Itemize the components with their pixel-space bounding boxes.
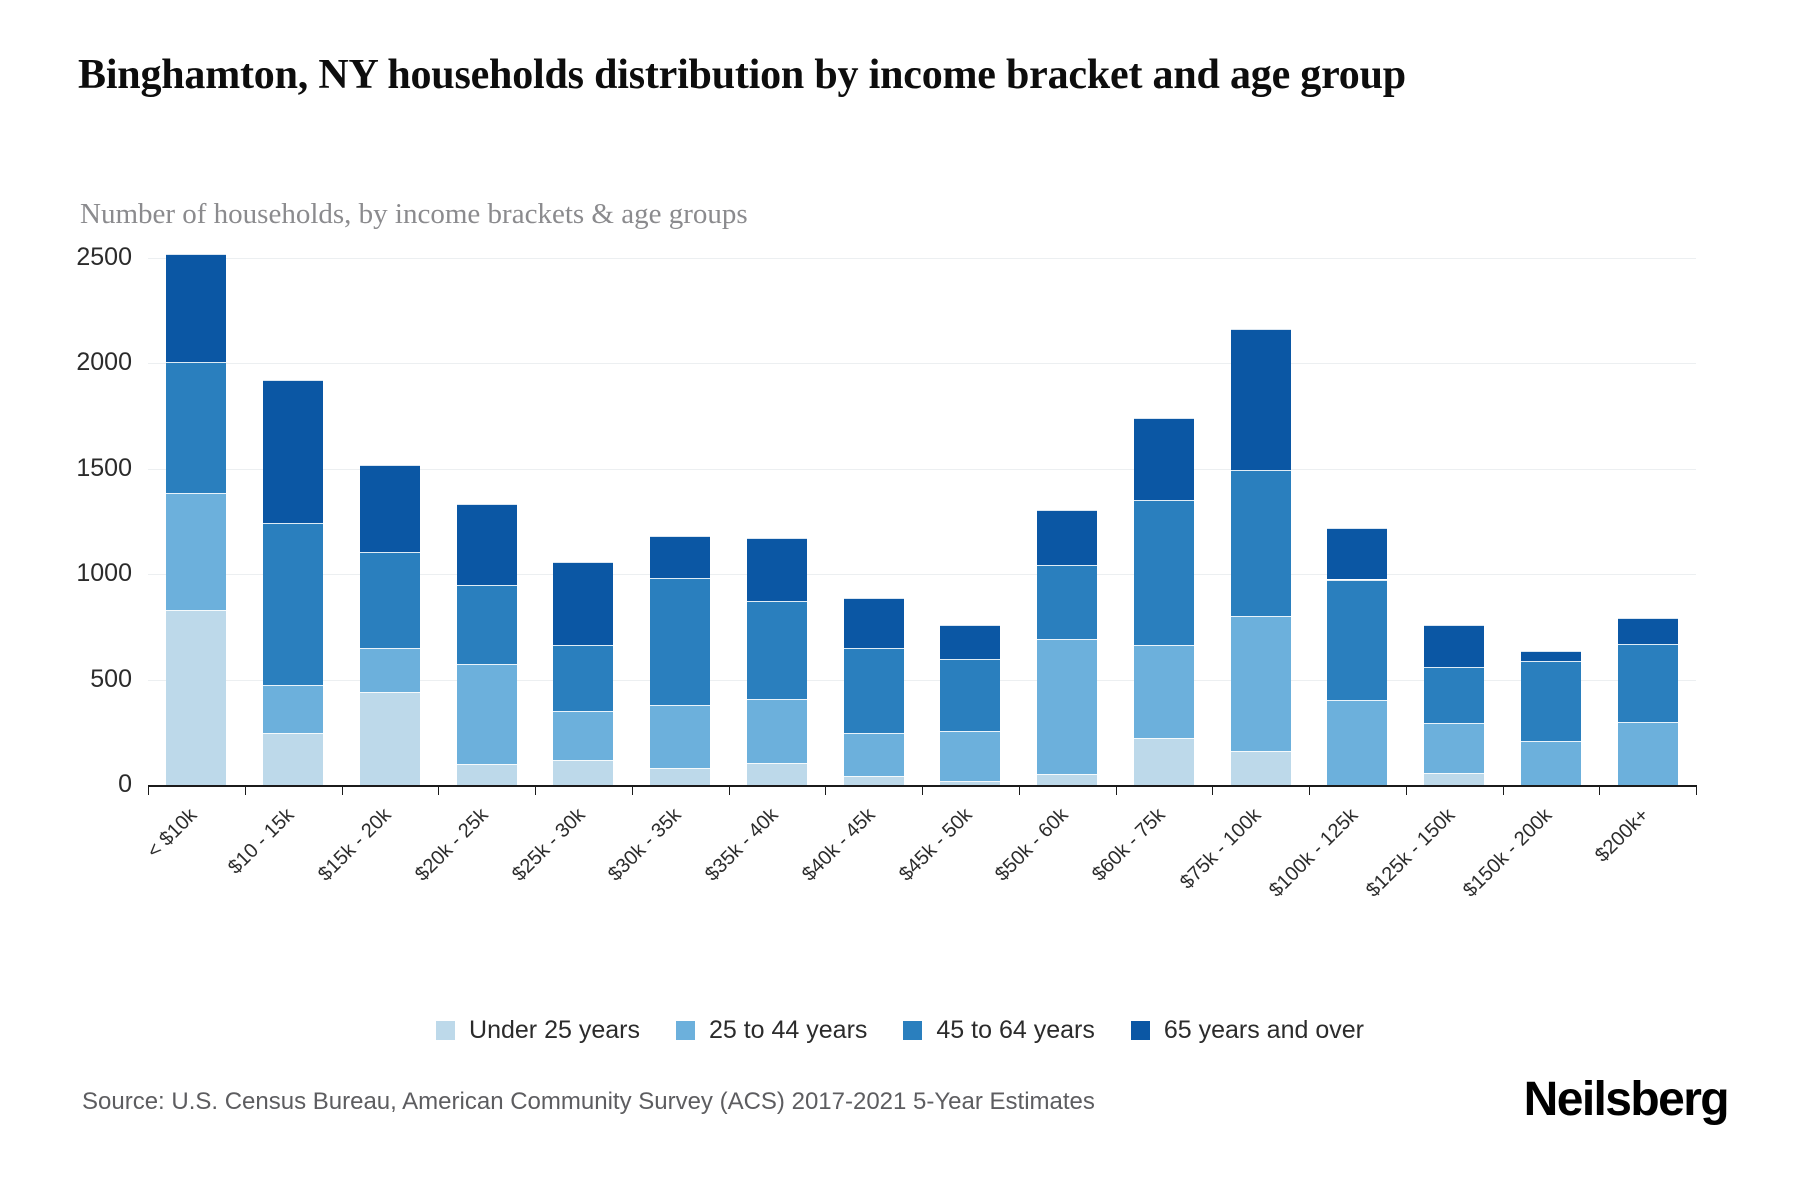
x-axis-tick-mark bbox=[922, 785, 923, 795]
x-axis-tick-mark bbox=[148, 785, 149, 795]
y-axis-tick-label: 1500 bbox=[12, 454, 132, 483]
x-axis-tick-mark bbox=[1309, 785, 1310, 795]
bar-segment[interactable] bbox=[1037, 774, 1097, 785]
bar-segment[interactable] bbox=[166, 254, 226, 363]
x-axis-tick-label: $200k+ bbox=[1591, 804, 1654, 867]
x-axis-tick-label: $100k - 125k bbox=[1265, 804, 1363, 902]
x-axis-tick-mark bbox=[729, 785, 730, 795]
legend-item[interactable]: 25 to 44 years bbox=[676, 1016, 867, 1045]
y-axis-tick-label: 2000 bbox=[12, 348, 132, 377]
y-axis-tick-label: 1000 bbox=[12, 559, 132, 588]
bar-stack[interactable] bbox=[1327, 258, 1387, 785]
bar-stack[interactable] bbox=[1521, 258, 1581, 785]
bar-segment[interactable] bbox=[1037, 510, 1097, 565]
legend-swatch-icon bbox=[676, 1021, 695, 1040]
bar-segment[interactable] bbox=[650, 768, 710, 785]
x-axis-tick-mark bbox=[342, 785, 343, 795]
bar-stack[interactable] bbox=[553, 258, 613, 785]
legend-item[interactable]: Under 25 years bbox=[436, 1016, 640, 1045]
bar-segment[interactable] bbox=[166, 362, 226, 493]
bar-segment[interactable] bbox=[747, 538, 807, 600]
bar-segment[interactable] bbox=[1327, 580, 1387, 700]
bar-stack[interactable] bbox=[1134, 258, 1194, 785]
bar-segment[interactable] bbox=[457, 504, 517, 585]
x-axis-tick-mark bbox=[438, 785, 439, 795]
bar-segment[interactable] bbox=[166, 493, 226, 610]
x-axis-tick-label: $60k - 75k bbox=[1088, 804, 1170, 886]
x-axis-tick-label: $45k - 50k bbox=[895, 804, 977, 886]
x-axis-tick-label: $30k - 35k bbox=[604, 804, 686, 886]
bar-stack[interactable] bbox=[1618, 258, 1678, 785]
x-axis-tick-label: $75k - 100k bbox=[1176, 804, 1266, 894]
bar-segment[interactable] bbox=[360, 648, 420, 692]
x-axis-tick-mark bbox=[245, 785, 246, 795]
bar-segment[interactable] bbox=[1618, 618, 1678, 643]
bar-series-layer bbox=[148, 258, 1696, 785]
bar-stack[interactable] bbox=[650, 258, 710, 785]
x-axis-tick-label: $50k - 60k bbox=[991, 804, 1073, 886]
bar-segment[interactable] bbox=[457, 664, 517, 764]
bar-segment[interactable] bbox=[1424, 625, 1484, 667]
bar-segment[interactable] bbox=[1618, 644, 1678, 722]
legend-item[interactable]: 65 years and over bbox=[1131, 1016, 1364, 1045]
x-axis-tick-label: $125k - 150k bbox=[1362, 804, 1460, 902]
bar-segment[interactable] bbox=[553, 711, 613, 759]
y-axis-tick-label: 0 bbox=[12, 770, 132, 799]
bar-segment[interactable] bbox=[1231, 751, 1291, 785]
x-axis-tick-mark bbox=[632, 785, 633, 795]
x-axis-tick-label: $15k - 20k bbox=[314, 804, 396, 886]
legend-label: 45 to 64 years bbox=[936, 1016, 1094, 1045]
x-axis-tick-label: $40k - 45k bbox=[798, 804, 880, 886]
brand-logo: Neilsberg bbox=[1524, 1072, 1728, 1127]
bar-segment[interactable] bbox=[457, 585, 517, 664]
y-axis-tick-label: 2500 bbox=[12, 243, 132, 272]
legend-swatch-icon bbox=[436, 1021, 455, 1040]
x-axis-tick-label: < $10k bbox=[143, 804, 202, 863]
x-axis-tick-mark bbox=[1696, 785, 1697, 795]
bar-stack[interactable] bbox=[263, 258, 323, 785]
legend-swatch-icon bbox=[903, 1021, 922, 1040]
bar-segment[interactable] bbox=[1037, 639, 1097, 775]
bar-stack[interactable] bbox=[1231, 258, 1291, 785]
bar-segment[interactable] bbox=[1134, 500, 1194, 644]
bar-segment[interactable] bbox=[940, 731, 1000, 781]
y-axis-tick-label: 500 bbox=[12, 665, 132, 694]
bar-segment[interactable] bbox=[263, 685, 323, 733]
bar-segment[interactable] bbox=[1134, 645, 1194, 738]
bar-segment[interactable] bbox=[1037, 565, 1097, 639]
bar-segment[interactable] bbox=[263, 523, 323, 685]
bar-stack[interactable] bbox=[457, 258, 517, 785]
bar-segment[interactable] bbox=[360, 692, 420, 785]
bar-segment[interactable] bbox=[1231, 616, 1291, 751]
bar-segment[interactable] bbox=[166, 610, 226, 785]
bar-segment[interactable] bbox=[1134, 418, 1194, 500]
bar-stack[interactable] bbox=[747, 258, 807, 785]
x-axis-tick-mark bbox=[1019, 785, 1020, 795]
bar-segment[interactable] bbox=[940, 625, 1000, 659]
x-axis-tick-mark bbox=[825, 785, 826, 795]
source-note: Source: U.S. Census Bureau, American Com… bbox=[82, 1088, 1095, 1116]
bar-segment[interactable] bbox=[263, 733, 323, 785]
bar-stack[interactable] bbox=[360, 258, 420, 785]
bar-segment[interactable] bbox=[1521, 651, 1581, 660]
bar-segment[interactable] bbox=[650, 705, 710, 768]
bar-segment[interactable] bbox=[747, 699, 807, 763]
bar-stack[interactable] bbox=[1424, 258, 1484, 785]
bar-segment[interactable] bbox=[1327, 700, 1387, 785]
bar-segment[interactable] bbox=[1231, 329, 1291, 470]
bar-segment[interactable] bbox=[844, 733, 904, 775]
bar-stack[interactable] bbox=[940, 258, 1000, 785]
legend-label: Under 25 years bbox=[469, 1016, 640, 1045]
bar-segment[interactable] bbox=[1521, 741, 1581, 785]
bar-stack[interactable] bbox=[1037, 258, 1097, 785]
chart-subtitle: Number of households, by income brackets… bbox=[80, 198, 748, 231]
x-axis-tick-label: $20k - 25k bbox=[411, 804, 493, 886]
page-title: Binghamton, NY households distribution b… bbox=[78, 48, 1698, 104]
bar-segment[interactable] bbox=[747, 763, 807, 785]
bar-segment[interactable] bbox=[553, 760, 613, 785]
bar-segment[interactable] bbox=[1424, 667, 1484, 723]
bar-segment[interactable] bbox=[1231, 470, 1291, 617]
bar-segment[interactable] bbox=[940, 659, 1000, 732]
bar-segment[interactable] bbox=[1424, 723, 1484, 774]
bar-segment[interactable] bbox=[650, 536, 710, 578]
bar-segment[interactable] bbox=[553, 645, 613, 711]
x-axis-tick-mark bbox=[1212, 785, 1213, 795]
chart-legend: Under 25 years25 to 44 years45 to 64 yea… bbox=[0, 1016, 1800, 1045]
bar-segment[interactable] bbox=[1521, 661, 1581, 741]
x-axis-tick-label: $150k - 200k bbox=[1459, 804, 1557, 902]
bar-segment[interactable] bbox=[360, 465, 420, 552]
x-axis-tick-mark bbox=[1116, 785, 1117, 795]
x-axis-tick-mark bbox=[1406, 785, 1407, 795]
bar-segment[interactable] bbox=[650, 578, 710, 704]
bar-segment[interactable] bbox=[1134, 738, 1194, 785]
bar-segment[interactable] bbox=[360, 552, 420, 648]
bar-segment[interactable] bbox=[263, 380, 323, 522]
x-axis-tick-mark bbox=[535, 785, 536, 795]
bar-segment[interactable] bbox=[844, 776, 904, 785]
x-axis-tick-label: $25k - 30k bbox=[508, 804, 590, 886]
legend-swatch-icon bbox=[1131, 1021, 1150, 1040]
bar-segment[interactable] bbox=[747, 601, 807, 699]
bar-segment[interactable] bbox=[1424, 773, 1484, 785]
legend-item[interactable]: 45 to 64 years bbox=[903, 1016, 1094, 1045]
x-axis-tick-mark bbox=[1503, 785, 1504, 795]
bar-segment[interactable] bbox=[844, 648, 904, 733]
chart-canvas: Binghamton, NY households distribution b… bbox=[0, 0, 1800, 1200]
x-axis-tick-label: $35k - 40k bbox=[701, 804, 783, 886]
legend-label: 25 to 44 years bbox=[709, 1016, 867, 1045]
bar-segment[interactable] bbox=[844, 598, 904, 648]
bar-segment[interactable] bbox=[1618, 722, 1678, 785]
legend-label: 65 years and over bbox=[1164, 1016, 1364, 1045]
bar-segment[interactable] bbox=[1327, 528, 1387, 580]
bar-stack[interactable] bbox=[166, 258, 226, 785]
x-axis-tick-label: $10 - 15k bbox=[224, 804, 299, 879]
bar-segment[interactable] bbox=[457, 764, 517, 785]
bar-segment[interactable] bbox=[553, 562, 613, 645]
x-axis-tick-mark bbox=[1599, 785, 1600, 795]
bar-stack[interactable] bbox=[844, 258, 904, 785]
bar-segment[interactable] bbox=[940, 781, 1000, 785]
